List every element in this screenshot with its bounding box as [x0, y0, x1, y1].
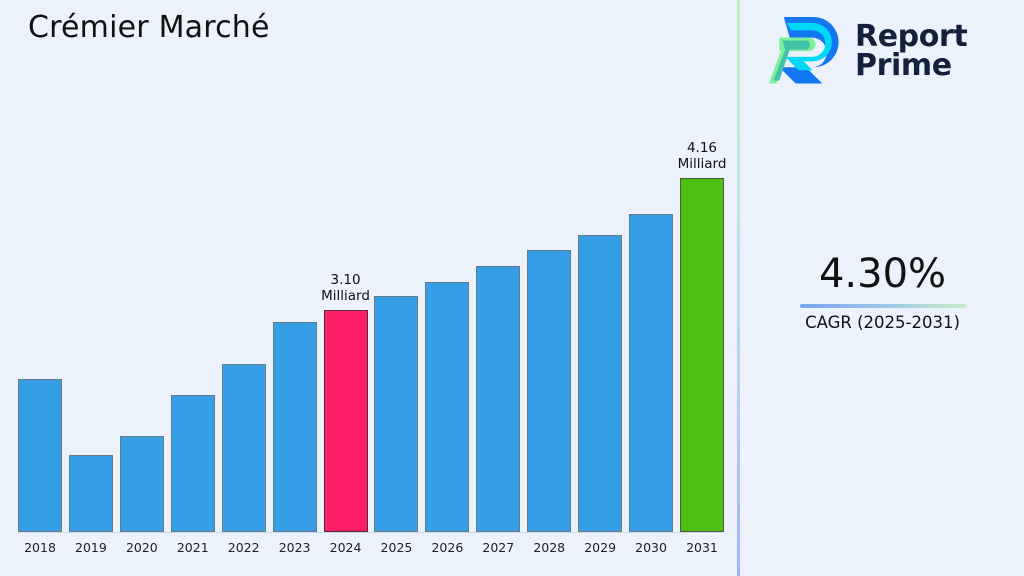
panel-divider — [737, 0, 740, 576]
bar-slot — [18, 100, 62, 532]
cagr-divider-rule — [800, 304, 966, 308]
bar-value-unit: Milliard — [321, 288, 370, 304]
bar-value-unit: Milliard — [678, 156, 727, 172]
bar-slot — [578, 100, 622, 532]
bar-slot — [273, 100, 317, 532]
bar-slot — [425, 100, 469, 532]
bar-slot — [476, 100, 520, 532]
x-tick-2025: 2025 — [374, 540, 418, 555]
bar-slot — [527, 100, 571, 532]
page-title: Crémier Marché — [28, 10, 270, 45]
x-tick-2021: 2021 — [171, 540, 215, 555]
bar-2028[interactable] — [527, 250, 571, 532]
x-tick-2028: 2028 — [527, 540, 571, 555]
bar-series: 3.10Milliard4.16Milliard — [18, 100, 724, 532]
report-prime-logo-mark — [769, 12, 843, 90]
logo-line-1: Report — [855, 22, 967, 51]
bar-slot: 4.16Milliard — [680, 100, 724, 532]
bar-2030[interactable] — [629, 214, 673, 532]
x-axis-line — [18, 532, 722, 533]
x-tick-2031: 2031 — [680, 540, 724, 555]
x-axis-tick-labels: 2018201920202021202220232024202520262027… — [18, 540, 724, 555]
bar-2019[interactable] — [69, 455, 113, 532]
logo-line-2: Prime — [855, 51, 967, 80]
bar-value-label: 4.16Milliard — [678, 140, 727, 172]
bar-2025[interactable] — [374, 296, 418, 532]
summary-panel: Report Prime 4.30% CAGR (2025-2031) — [741, 0, 1024, 576]
bar-slot — [171, 100, 215, 532]
x-tick-2026: 2026 — [425, 540, 469, 555]
bar-slot — [120, 100, 164, 532]
x-tick-2018: 2018 — [18, 540, 62, 555]
bar-slot — [222, 100, 266, 532]
bar-chart-plot-area: 3.10Milliard4.16Milliard 201820192020202… — [0, 100, 738, 576]
bar-2031[interactable] — [680, 178, 724, 532]
bar-2023[interactable] — [273, 322, 317, 532]
x-tick-2024: 2024 — [324, 540, 368, 555]
bar-2021[interactable] — [171, 395, 215, 532]
x-tick-2022: 2022 — [222, 540, 266, 555]
bar-2026[interactable] — [425, 282, 469, 532]
bar-slot: 3.10Milliard — [324, 100, 368, 532]
report-prime-logo: Report Prime — [769, 12, 967, 90]
bar-value-number: 4.16 — [678, 140, 727, 156]
chart-panel: Crémier Marché 3.10Milliard4.16Milliard … — [0, 0, 738, 576]
bar-value-number: 3.10 — [321, 272, 370, 288]
bar-slot — [374, 100, 418, 532]
bar-2029[interactable] — [578, 235, 622, 532]
x-tick-2029: 2029 — [578, 540, 622, 555]
bar-2022[interactable] — [222, 364, 266, 532]
x-tick-2027: 2027 — [476, 540, 520, 555]
x-tick-2030: 2030 — [629, 540, 673, 555]
bar-2024[interactable] — [324, 310, 368, 532]
bar-2020[interactable] — [120, 436, 164, 532]
x-tick-2020: 2020 — [120, 540, 164, 555]
bar-slot — [629, 100, 673, 532]
x-tick-2019: 2019 — [69, 540, 113, 555]
logo-wordmark: Report Prime — [855, 22, 967, 81]
bar-slot — [69, 100, 113, 532]
x-tick-2023: 2023 — [273, 540, 317, 555]
bar-2018[interactable] — [18, 379, 62, 532]
screenshot-root: Crémier Marché 3.10Milliard4.16Milliard … — [0, 0, 1024, 576]
cagr-value: 4.30% — [741, 250, 1024, 298]
cagr-label: CAGR (2025-2031) — [741, 312, 1024, 334]
bar-value-label: 3.10Milliard — [321, 272, 370, 304]
cagr-block: 4.30% CAGR (2025-2031) — [741, 250, 1024, 334]
bar-2027[interactable] — [476, 266, 520, 532]
